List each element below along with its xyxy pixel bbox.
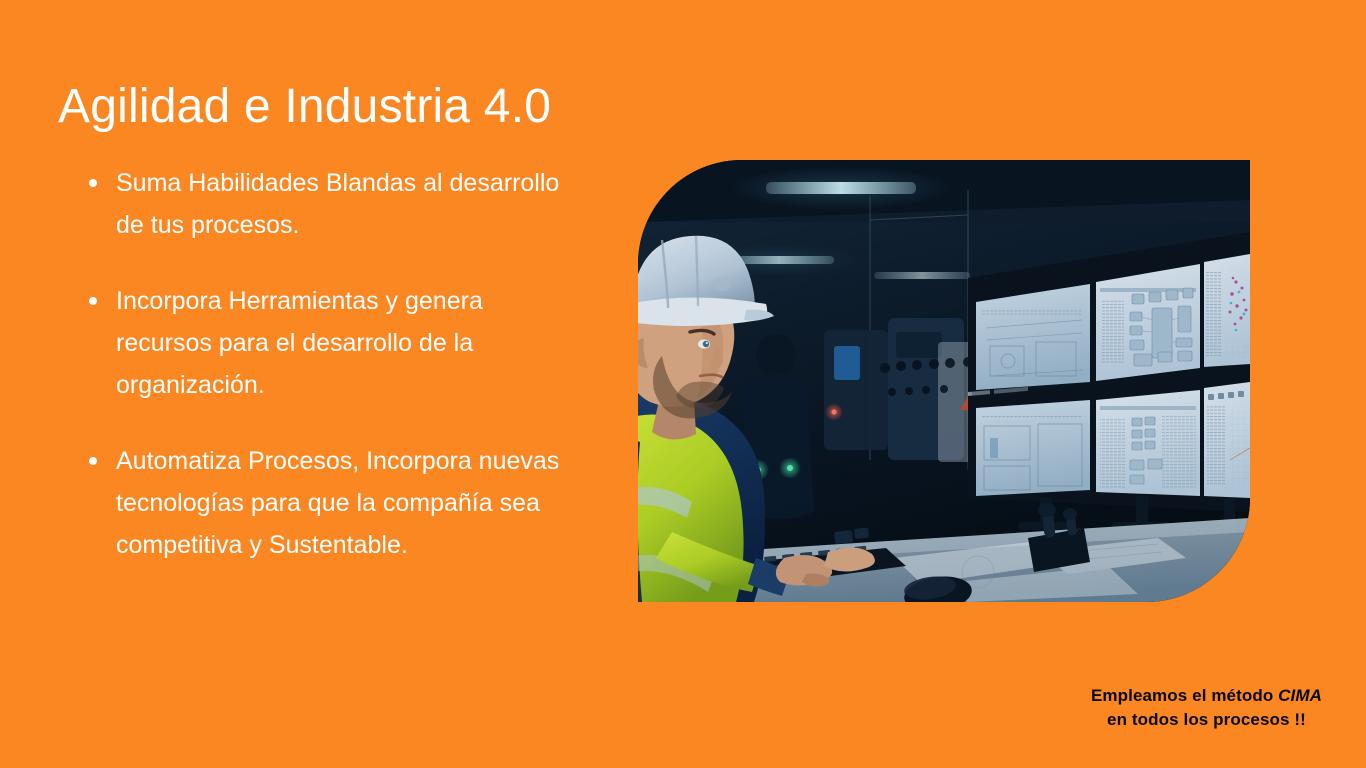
- bullet-dot-icon: [89, 457, 97, 465]
- footer-note: Empleamos el método CIMA en todos los pr…: [1091, 684, 1322, 732]
- footer-line-1-text: Empleamos el método: [1091, 686, 1278, 705]
- footer-emphasis: CIMA: [1278, 686, 1322, 705]
- list-item-label: Automatiza Procesos, Incorpora nuevas te…: [116, 447, 559, 559]
- list-item: Incorpora Herramientas y genera recursos…: [72, 280, 582, 406]
- control-room-illustration: [638, 160, 1250, 602]
- list-item-label: Incorpora Herramientas y genera recursos…: [116, 287, 483, 399]
- slide-canvas: Agilidad e Industria 4.0 Suma Habilidade…: [0, 0, 1366, 768]
- list-item: Automatiza Procesos, Incorpora nuevas te…: [72, 440, 582, 566]
- control-room-photo: [638, 160, 1250, 602]
- bullet-dot-icon: [89, 179, 97, 187]
- footer-line-2: en todos los procesos !!: [1091, 708, 1322, 732]
- bullet-dot-icon: [89, 297, 97, 305]
- bullet-list: Suma Habilidades Blandas al desarrollo d…: [72, 162, 582, 566]
- list-item: Suma Habilidades Blandas al desarrollo d…: [72, 162, 582, 246]
- page-title: Agilidad e Industria 4.0: [58, 78, 551, 136]
- footer-line-1: Empleamos el método CIMA: [1091, 684, 1322, 708]
- list-item-label: Suma Habilidades Blandas al desarrollo d…: [116, 169, 559, 239]
